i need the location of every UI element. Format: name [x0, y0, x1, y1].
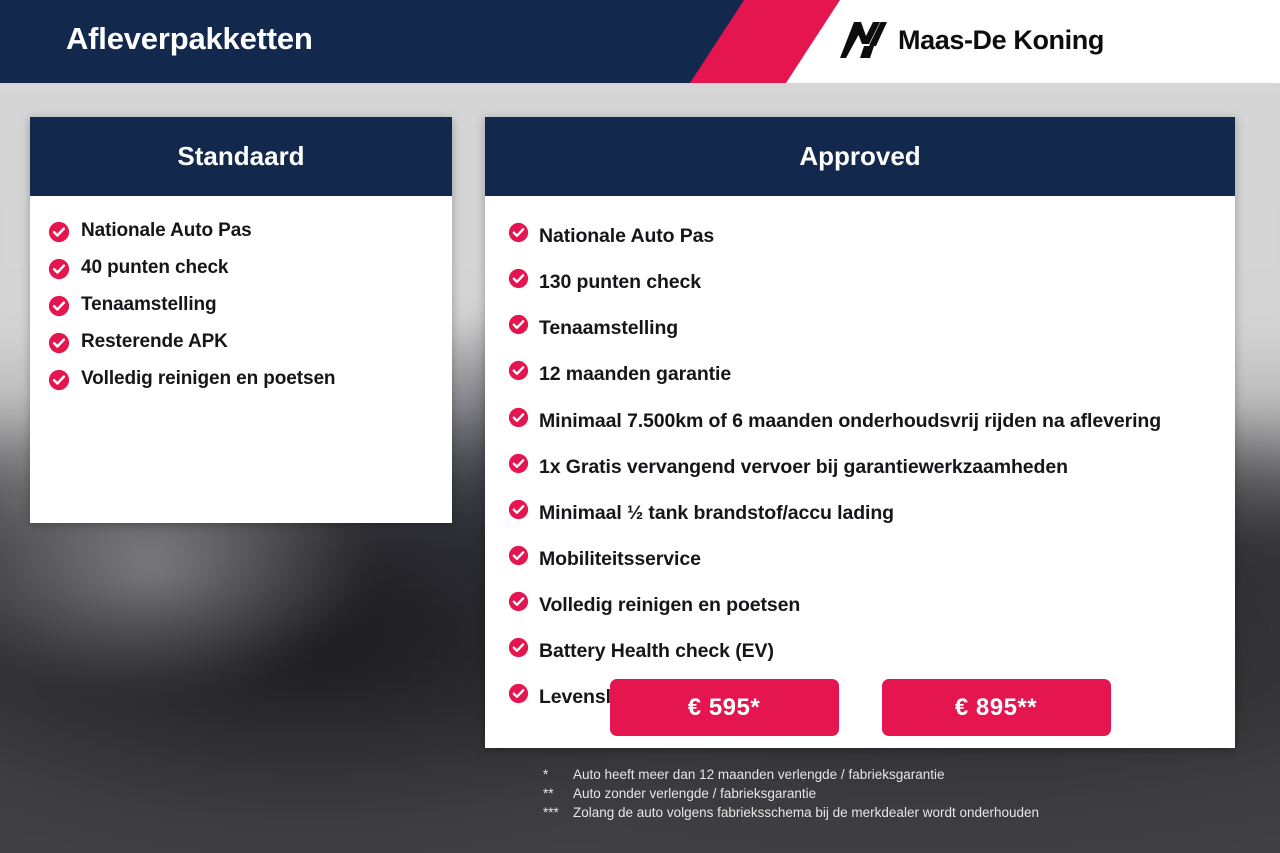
check-circle-icon [508, 314, 529, 335]
check-circle-icon [48, 332, 70, 354]
feature-item: 1x Gratis vervangend vervoer bij garanti… [508, 450, 1217, 484]
feature-item: Nationale Auto Pas [508, 219, 1217, 253]
feature-label: Battery Health check (EV) [539, 634, 774, 668]
feature-item: Mobiliteitsservice [508, 542, 1217, 576]
check-circle-icon [508, 222, 529, 243]
brand-name: Maas-De Koning [898, 25, 1104, 56]
feature-label: Tenaamstelling [539, 311, 678, 345]
feature-item: Resterende APK [48, 330, 434, 354]
price-button-row: € 595*€ 895** [485, 679, 1235, 736]
package-card-standaard: Standaard Nationale Auto Pas40 punten ch… [30, 117, 452, 523]
maas-de-koning-m-icon [840, 20, 887, 60]
feature-label: 1x Gratis vervangend vervoer bij garanti… [539, 450, 1068, 484]
check-circle-icon [508, 407, 529, 428]
check-circle-icon [48, 258, 70, 280]
check-circle-icon [48, 295, 70, 317]
check-circle-icon [508, 545, 529, 566]
feature-label: Mobiliteitsservice [539, 542, 701, 576]
feature-label: Nationale Auto Pas [81, 219, 252, 243]
feature-item: Tenaamstelling [48, 293, 434, 317]
feature-label: 12 maanden garantie [539, 357, 731, 391]
feature-list-standaard: Nationale Auto Pas40 punten checkTenaams… [48, 219, 434, 391]
check-circle-icon [508, 499, 529, 520]
check-circle-icon [508, 637, 529, 658]
footnote-row: **Auto zonder verlengde / fabrieksgarant… [543, 784, 1039, 803]
delivery-packages-poster: Afleverpakketten Maas-De Koning Standaar… [0, 0, 1280, 853]
feature-item: Minimaal ½ tank brandstof/accu lading [508, 496, 1217, 530]
page-title: Afleverpakketten [66, 21, 313, 57]
feature-label: 130 punten check [539, 265, 701, 299]
footnote-marker: ** [543, 784, 573, 803]
price-button-1[interactable]: € 595* [610, 679, 839, 736]
feature-item: Volledig reinigen en poetsen [508, 588, 1217, 622]
header-banner: Afleverpakketten Maas-De Koning [0, 0, 1280, 83]
footnote-text: Auto heeft meer dan 12 maanden verlengde… [573, 765, 945, 784]
footnotes: *Auto heeft meer dan 12 maanden verlengd… [543, 765, 1039, 822]
feature-item: Nationale Auto Pas [48, 219, 434, 243]
feature-item: Battery Health check (EV) [508, 634, 1217, 668]
feature-label: Tenaamstelling [81, 293, 217, 317]
card-title-standaard: Standaard [30, 117, 452, 196]
check-circle-icon [48, 369, 70, 391]
card-body-approved: Nationale Auto Pas130 punten checkTenaam… [485, 196, 1235, 714]
feature-item: Minimaal 7.500km of 6 maanden onderhouds… [508, 404, 1217, 438]
feature-label: Volledig reinigen en poetsen [81, 367, 335, 391]
feature-list-approved: Nationale Auto Pas130 punten checkTenaam… [508, 219, 1217, 714]
feature-label: Resterende APK [81, 330, 228, 354]
price-button-2[interactable]: € 895** [882, 679, 1111, 736]
footnote-row: ***Zolang de auto volgens fabrieksschema… [543, 803, 1039, 822]
feature-item: Volledig reinigen en poetsen [48, 367, 434, 391]
check-circle-icon [508, 360, 529, 381]
feature-label: Minimaal ½ tank brandstof/accu lading [539, 496, 894, 530]
feature-item: 40 punten check [48, 256, 434, 280]
check-circle-icon [48, 221, 70, 243]
feature-label: Nationale Auto Pas [539, 219, 714, 253]
footnote-marker: *** [543, 803, 573, 822]
check-circle-icon [508, 453, 529, 474]
card-title-approved: Approved [485, 117, 1235, 196]
check-circle-icon [508, 268, 529, 289]
feature-item: 12 maanden garantie [508, 357, 1217, 391]
footnote-marker: * [543, 765, 573, 784]
feature-label: Minimaal 7.500km of 6 maanden onderhouds… [539, 404, 1161, 438]
footnote-row: *Auto heeft meer dan 12 maanden verlengd… [543, 765, 1039, 784]
card-body-standaard: Nationale Auto Pas40 punten checkTenaams… [30, 196, 452, 391]
feature-label: 40 punten check [81, 256, 228, 280]
feature-item: Tenaamstelling [508, 311, 1217, 345]
footnote-text: Zolang de auto volgens fabrieksschema bi… [573, 803, 1039, 822]
feature-item: 130 punten check [508, 265, 1217, 299]
footnote-text: Auto zonder verlengde / fabrieksgarantie [573, 784, 816, 803]
package-card-approved: Approved Nationale Auto Pas130 punten ch… [485, 117, 1235, 748]
feature-label: Volledig reinigen en poetsen [539, 588, 800, 622]
check-circle-icon [508, 591, 529, 612]
brand-logo: Maas-De Koning [840, 20, 1104, 60]
